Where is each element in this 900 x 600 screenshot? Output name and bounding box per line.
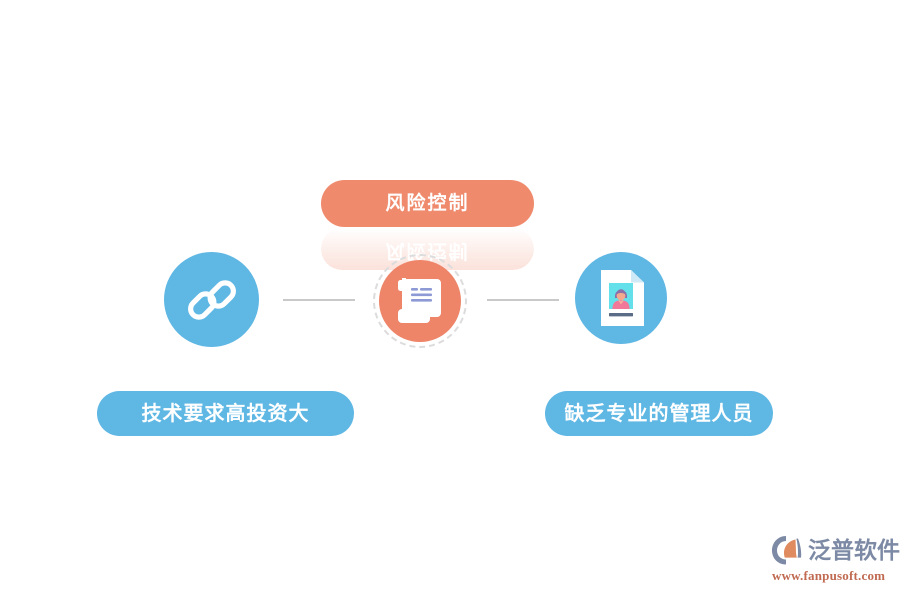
chain-link-icon bbox=[184, 272, 240, 328]
leaf-pill-technology-investment-label: 技术要求高投资大 bbox=[142, 404, 310, 424]
fanpu-logo-mark-icon bbox=[772, 535, 806, 565]
watermark-logo: 泛普软件 www.fanpusoft.com bbox=[772, 533, 892, 589]
risk-control-title-group: 风险控制 风险控制 bbox=[321, 180, 534, 227]
node-left-technology[interactable] bbox=[164, 252, 259, 347]
connector-line-right bbox=[487, 299, 559, 301]
watermark-top-row: 泛普软件 bbox=[772, 533, 900, 567]
node-right-management[interactable] bbox=[575, 252, 667, 344]
risk-control-title-pill[interactable]: 风险控制 bbox=[321, 180, 534, 227]
watermark-url: www.fanpusoft.com bbox=[772, 569, 885, 582]
leaf-pill-technology-investment[interactable]: 技术要求高投资大 bbox=[97, 391, 354, 436]
id-card-person-icon bbox=[598, 270, 644, 326]
node-center-risk-control[interactable] bbox=[379, 260, 461, 342]
leaf-pill-lack-of-managers[interactable]: 缺乏专业的管理人员 bbox=[545, 391, 773, 436]
connector-line-left bbox=[283, 299, 355, 301]
watermark-brand-name: 泛普软件 bbox=[808, 539, 900, 562]
diagram-canvas: 风险控制 风险控制 bbox=[0, 0, 900, 600]
scroll-document-icon bbox=[398, 278, 442, 324]
risk-control-title-label: 风险控制 bbox=[385, 194, 469, 213]
leaf-pill-lack-of-managers-label: 缺乏专业的管理人员 bbox=[565, 404, 754, 424]
